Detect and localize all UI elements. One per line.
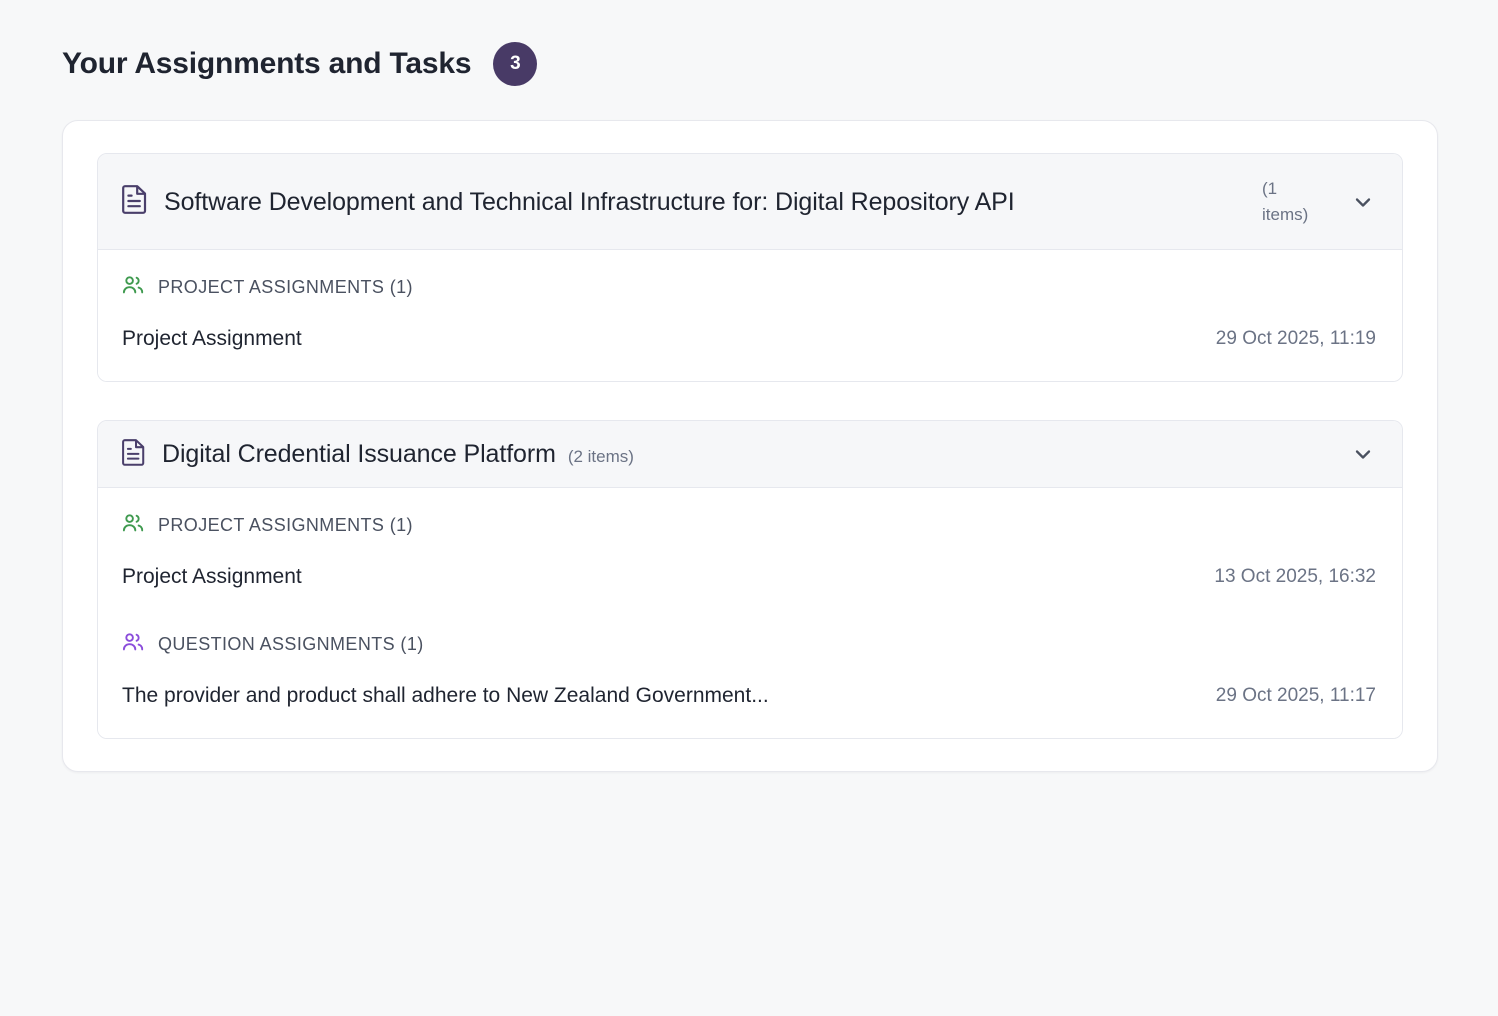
assignment-row[interactable]: Project Assignment 29 Oct 2025, 11:19 (122, 327, 1376, 351)
section-label-project-assignments: PROJECT ASSIGNMENTS (1) (122, 274, 1376, 301)
chevron-down-icon[interactable] (1350, 189, 1376, 215)
assignment-title: Project Assignment (122, 565, 302, 589)
page-title: Your Assignments and Tasks (62, 47, 471, 81)
section-label-text: PROJECT ASSIGNMENTS (1) (158, 277, 413, 298)
group-item-count: (2 items) (568, 447, 634, 467)
group-title-wrap: Digital Credential Issuance Platform (2 … (162, 437, 1334, 471)
group-item-count: (1 items) (1262, 176, 1314, 227)
chevron-down-icon[interactable] (1350, 441, 1376, 467)
section-label-project-assignments: PROJECT ASSIGNMENTS (1) (122, 512, 1376, 539)
assignments-panel: Software Development and Technical Infra… (62, 120, 1438, 772)
assignment-group-card: Digital Credential Issuance Platform (2 … (97, 420, 1403, 739)
group-body: PROJECT ASSIGNMENTS (1) Project Assignme… (98, 488, 1402, 738)
assignment-date: 13 Oct 2025, 16:32 (1214, 566, 1376, 588)
group-body: PROJECT ASSIGNMENTS (1) Project Assignme… (98, 250, 1402, 381)
assignment-date: 29 Oct 2025, 11:17 (1216, 685, 1376, 707)
assignment-group-card: Software Development and Technical Infra… (97, 153, 1403, 382)
assignment-row[interactable]: The provider and product shall adhere to… (122, 684, 1376, 708)
section-label-text: QUESTION ASSIGNMENTS (1) (158, 634, 424, 655)
section-label-text: PROJECT ASSIGNMENTS (1) (158, 515, 413, 536)
assignment-date: 29 Oct 2025, 11:19 (1216, 328, 1376, 350)
document-icon (122, 184, 148, 219)
users-icon (122, 512, 144, 539)
assignments-page: Your Assignments and Tasks 3 Software De… (0, 0, 1498, 1016)
page-header: Your Assignments and Tasks 3 (62, 36, 1438, 92)
status-badge: 3 (493, 42, 537, 86)
assignment-title: The provider and product shall adhere to… (122, 684, 769, 708)
group-header[interactable]: Digital Credential Issuance Platform (2 … (98, 421, 1402, 488)
section-label-question-assignments: QUESTION ASSIGNMENTS (1) (122, 631, 1376, 658)
group-title: Digital Credential Issuance Platform (162, 437, 556, 471)
group-title: Software Development and Technical Infra… (164, 185, 1015, 219)
document-icon (122, 438, 146, 471)
group-title-wrap: Software Development and Technical Infra… (164, 185, 1246, 219)
group-header[interactable]: Software Development and Technical Infra… (98, 154, 1402, 250)
users-icon (122, 631, 144, 658)
assignment-title: Project Assignment (122, 327, 302, 351)
users-icon (122, 274, 144, 301)
assignment-row[interactable]: Project Assignment 13 Oct 2025, 16:32 (122, 565, 1376, 589)
